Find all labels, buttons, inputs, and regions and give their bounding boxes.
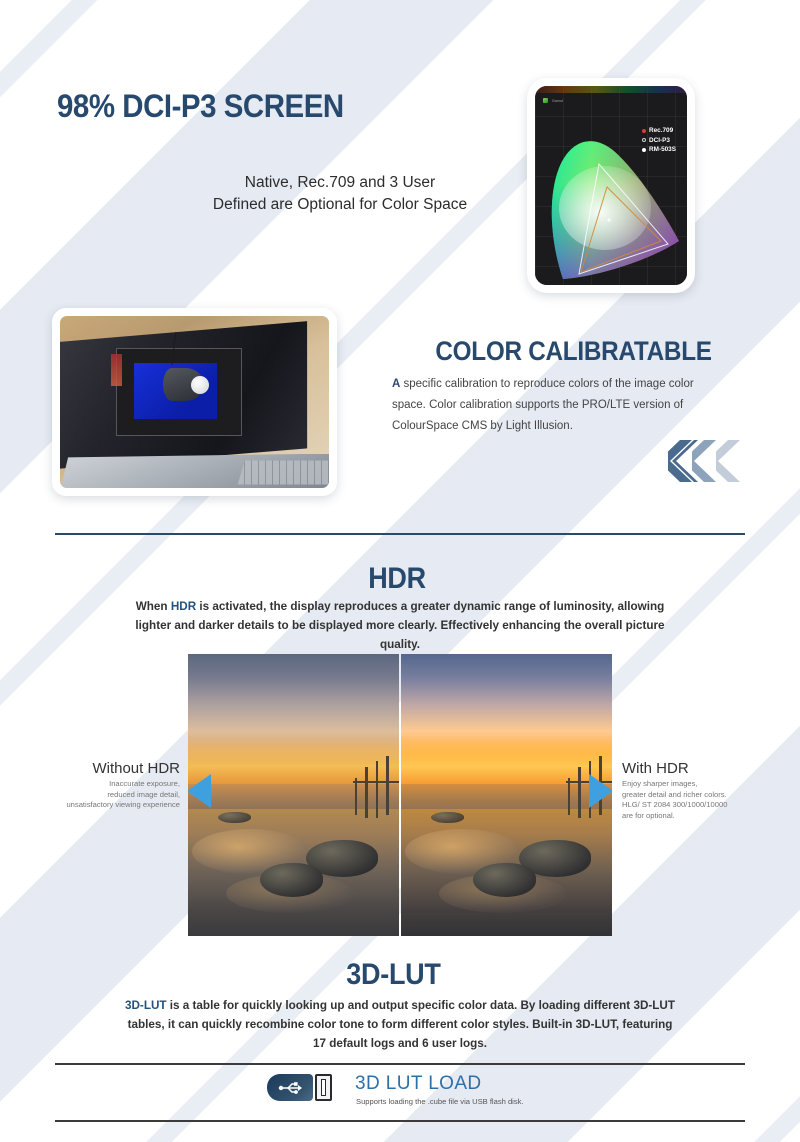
colorimeter-lens bbox=[191, 376, 209, 394]
without-hdr-block: Without HDR Inaccurate exposure, reduced… bbox=[40, 760, 180, 811]
hdr-body-part1: When bbox=[136, 600, 171, 613]
lut-title: 3D-LUT bbox=[346, 958, 440, 992]
color-patch bbox=[111, 354, 121, 387]
legend-marker-hollow-dot-icon bbox=[642, 138, 646, 142]
hdr-image-right-with bbox=[401, 654, 612, 936]
usb-body bbox=[267, 1074, 313, 1101]
legend-marker-white-dot-icon bbox=[642, 148, 646, 152]
cie-legend: Rec.709 DCI-P3 RM-503S bbox=[642, 126, 676, 155]
hdr-body-highlight: HDR bbox=[171, 600, 196, 613]
hdr-image-left-without bbox=[188, 654, 399, 936]
without-hdr-label: Without HDR bbox=[40, 760, 180, 777]
legend-label: DCI-P3 bbox=[649, 136, 670, 146]
infographic-page: 98% DCI-P3 SCREEN Native, Rec.709 and 3 … bbox=[0, 0, 800, 1142]
arrow-left-icon bbox=[188, 774, 211, 808]
usb-flash-disk-icon bbox=[267, 1074, 332, 1101]
lut-divider-top bbox=[55, 1063, 745, 1065]
body-text: specific calibration to reproduce colors… bbox=[392, 378, 694, 432]
hdr-title: HDR bbox=[368, 562, 426, 596]
lut-body-highlight: 3D-LUT bbox=[125, 999, 167, 1012]
laptop-screen bbox=[60, 321, 307, 469]
cie-chart-screen: Gamut bbox=[535, 86, 687, 285]
hdr-body-part2: is activated, the display reproduces a g… bbox=[135, 600, 664, 651]
calibration-photo bbox=[60, 316, 329, 488]
usb-cap bbox=[315, 1074, 332, 1101]
legend-label: Rec.709 bbox=[649, 126, 673, 136]
laptop-keyboard bbox=[238, 460, 329, 484]
cie-device: Gamut bbox=[535, 86, 687, 285]
legend-item-rec709: Rec.709 bbox=[642, 126, 676, 136]
device-top-bar bbox=[535, 86, 687, 93]
cie-app-label: Gamut bbox=[552, 99, 563, 103]
lut-load-title: 3D LUT LOAD bbox=[355, 1073, 482, 1095]
lut-body-text: is a table for quickly looking up and ou… bbox=[128, 999, 675, 1050]
without-hdr-caption: Inaccurate exposure, reduced image detai… bbox=[40, 779, 180, 811]
usb-symbol-icon bbox=[278, 1080, 302, 1096]
legend-marker-red-dot-icon bbox=[642, 129, 646, 133]
lut-load-subtitle: Supports loading the .cube file via USB … bbox=[356, 1097, 524, 1106]
legend-label: RM-503S bbox=[649, 145, 676, 155]
legend-item-rm503s: RM-503S bbox=[642, 145, 676, 155]
hdr-body: When HDR is activated, the display repro… bbox=[130, 597, 670, 654]
with-hdr-label: With HDR bbox=[622, 760, 777, 777]
hero-subtitle: Native, Rec.709 and 3 User Defined are O… bbox=[180, 172, 500, 216]
page-title: 98% DCI-P3 SCREEN bbox=[57, 88, 344, 125]
hdr-comparison-image bbox=[188, 654, 612, 936]
color-calibratable-body: A specific calibration to reproduce colo… bbox=[392, 374, 707, 437]
section-divider-top bbox=[55, 533, 745, 535]
chevron-left-icon-3 bbox=[716, 440, 742, 480]
color-calibratable-title: COLOR CALIBRATABLE bbox=[435, 336, 711, 367]
legend-item-dcip3: DCI-P3 bbox=[642, 136, 676, 146]
chevron-left-icon-2 bbox=[692, 440, 718, 480]
lut-divider-bottom bbox=[55, 1120, 745, 1122]
lut-body: 3D-LUT is a table for quickly looking up… bbox=[120, 996, 680, 1053]
chevron-left-icon-1 bbox=[668, 440, 694, 480]
app-chip-icon bbox=[543, 98, 548, 103]
cie-device-photo-frame: Gamut bbox=[527, 78, 695, 293]
arrow-right-icon bbox=[589, 774, 612, 808]
with-hdr-caption: Enjoy sharper images, greater detail and… bbox=[622, 779, 777, 821]
calibration-photo-frame bbox=[52, 308, 337, 496]
with-hdr-block: With HDR Enjoy sharper images, greater d… bbox=[622, 760, 777, 821]
